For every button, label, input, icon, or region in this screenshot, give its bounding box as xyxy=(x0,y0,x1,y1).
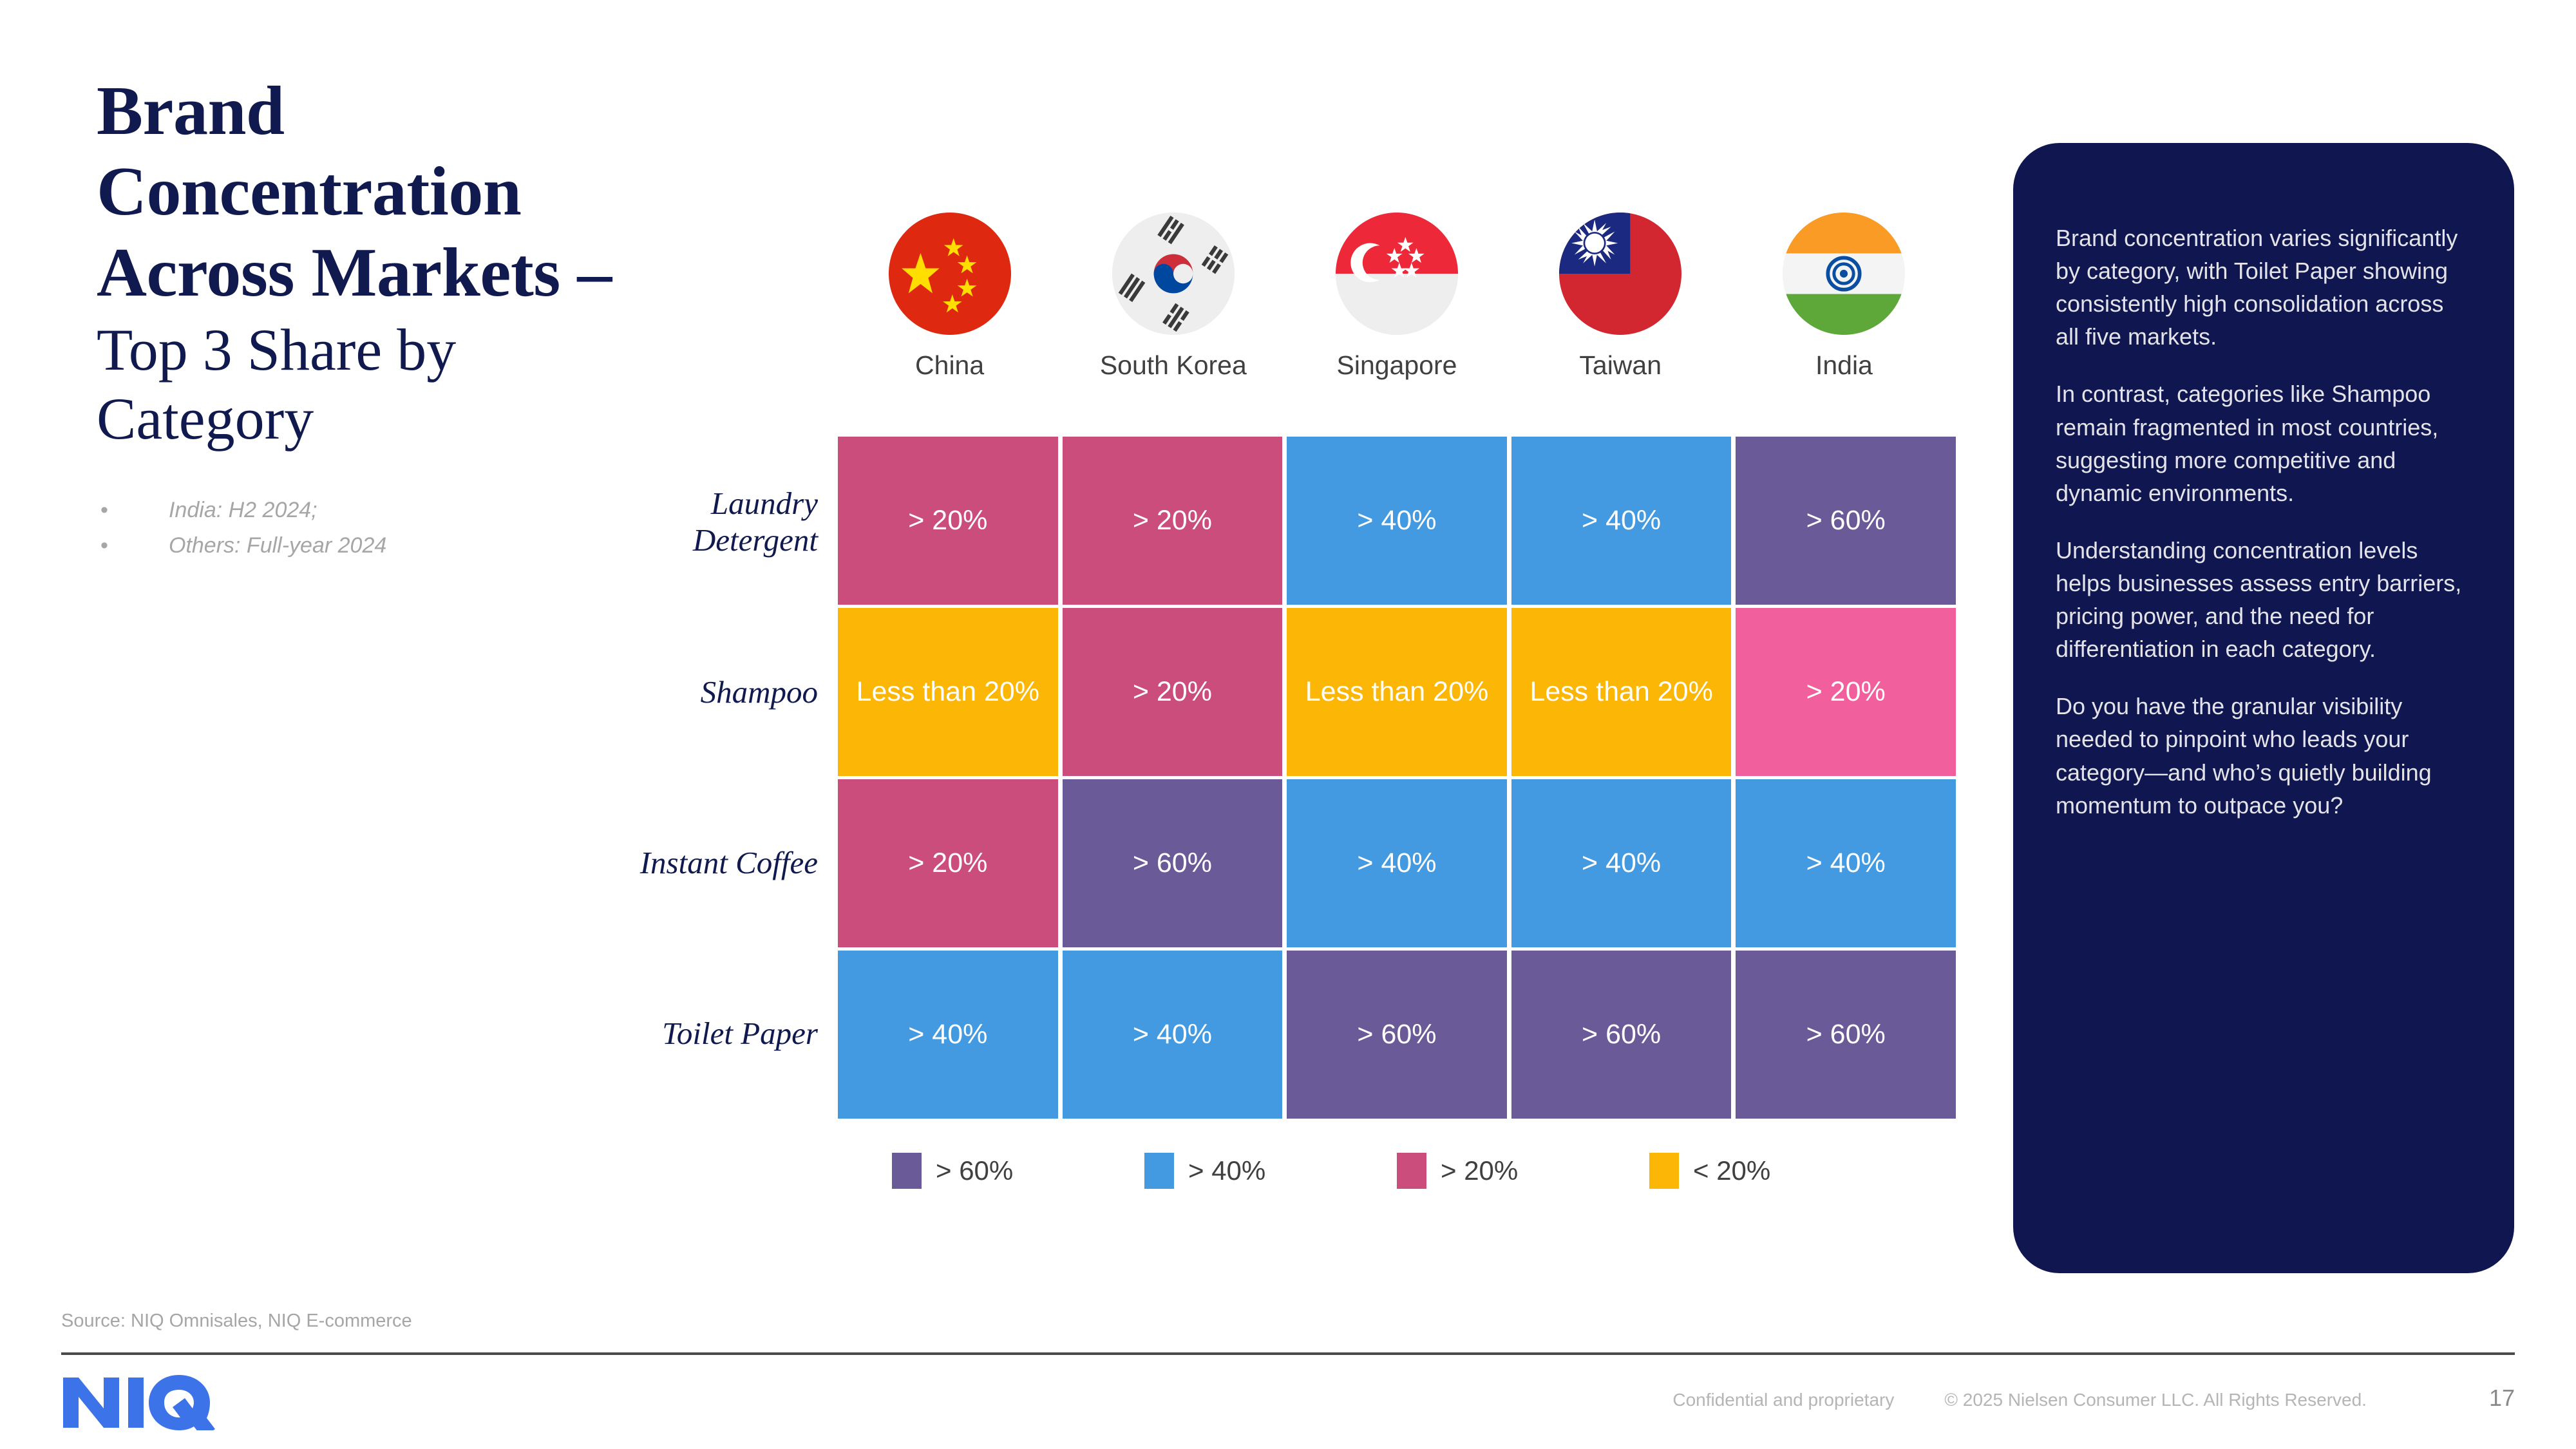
heatmap-cell[interactable]: > 60% xyxy=(1511,951,1732,1119)
page-number: 17 xyxy=(2489,1385,2515,1412)
legend-label: > 60% xyxy=(936,1155,1013,1186)
heatmap-cell[interactable]: > 20% xyxy=(1063,437,1283,605)
insight-panel: Brand concentration varies significantly… xyxy=(2013,143,2514,1273)
flag-taiwan-icon xyxy=(1559,213,1681,335)
insight-paragraph: In contrast, categories like Shampoo rem… xyxy=(2056,377,2472,509)
copyright-notice: © 2025 Nielsen Consumer LLC. All Rights … xyxy=(1944,1390,2367,1410)
legend-item-gt40[interactable]: > 40% xyxy=(1144,1153,1397,1189)
row-label-laundry-detergent: Laundry Detergent xyxy=(631,437,818,607)
heatmap-cell[interactable]: Less than 20% xyxy=(1287,608,1507,776)
column-header-label: Taiwan xyxy=(1579,350,1662,381)
heatmap-cell[interactable]: > 60% xyxy=(1287,951,1507,1119)
column-header-singapore: Singapore xyxy=(1285,213,1508,381)
heatmap-cell[interactable]: > 40% xyxy=(1736,779,1956,947)
insight-paragraph: Brand concentration varies significantly… xyxy=(2056,222,2472,353)
heatmap-row-labels: Laundry Detergent Shampoo Instant Coffee… xyxy=(631,437,818,1119)
chart-legend: > 60% > 40% > 20% < 20% xyxy=(838,1153,1956,1189)
heatmap-cell[interactable]: > 60% xyxy=(1736,951,1956,1119)
column-header-label: India xyxy=(1815,350,1873,381)
footer-meta-group: Confidential and proprietary © 2025 Niel… xyxy=(1672,1385,2515,1412)
column-header-india: India xyxy=(1732,213,1956,381)
legend-item-gt20[interactable]: > 20% xyxy=(1397,1153,1649,1189)
legend-swatch-icon xyxy=(1397,1153,1426,1189)
column-header-label: Singapore xyxy=(1337,350,1457,381)
row-label-toilet-paper: Toilet Paper xyxy=(631,948,818,1119)
legend-item-gt60[interactable]: > 60% xyxy=(892,1153,1144,1189)
source-note: Source: NIQ Omnisales, NIQ E-commerce xyxy=(61,1311,412,1332)
flag-singapore-icon xyxy=(1336,213,1458,335)
heatmap-cell[interactable]: > 40% xyxy=(1063,951,1283,1119)
insight-paragraph: Understanding concentration levels helps… xyxy=(2056,534,2472,665)
legend-swatch-icon xyxy=(892,1153,922,1189)
column-header-label: China xyxy=(915,350,984,381)
flag-south-korea-icon xyxy=(1112,213,1235,335)
column-header-taiwan: Taiwan xyxy=(1509,213,1732,381)
heatmap-cell[interactable]: > 20% xyxy=(838,779,1058,947)
heatmap-cell[interactable]: > 20% xyxy=(838,437,1058,605)
footer-divider xyxy=(61,1352,2515,1355)
heatmap-cell[interactable]: > 60% xyxy=(1736,437,1956,605)
column-header-china: China xyxy=(838,213,1061,381)
heatmap-cell[interactable]: > 40% xyxy=(1287,779,1507,947)
row-label-instant-coffee: Instant Coffee xyxy=(631,778,818,949)
page-subtitle: Top 3 Share by Category xyxy=(97,316,638,453)
heatmap-cell[interactable]: > 40% xyxy=(838,951,1058,1119)
legend-label: > 20% xyxy=(1441,1155,1518,1186)
legend-swatch-icon xyxy=(1649,1153,1679,1189)
heatmap-cell[interactable]: > 20% xyxy=(1063,608,1283,776)
niq-logo xyxy=(63,1375,250,1430)
heatmap-cell[interactable]: Less than 20% xyxy=(1511,608,1732,776)
heatmap-cell[interactable]: Less than 20% xyxy=(838,608,1058,776)
heatmap-cell[interactable]: > 60% xyxy=(1063,779,1283,947)
insight-paragraph: Do you have the granular visibility need… xyxy=(2056,690,2472,821)
country-header-row: China xyxy=(838,213,1956,381)
heatmap-grid: > 20% > 20% > 40% > 40% > 60% Less than … xyxy=(838,437,1956,1119)
column-header-label: South Korea xyxy=(1100,350,1247,381)
flag-india-icon xyxy=(1783,213,1905,335)
page-title: Brand Concentration Across Markets – xyxy=(97,71,638,313)
legend-swatch-icon xyxy=(1144,1153,1174,1189)
legend-label: < 20% xyxy=(1693,1155,1770,1186)
heatmap-cell[interactable]: > 40% xyxy=(1287,437,1507,605)
heatmap-cell[interactable]: > 20% xyxy=(1736,608,1956,776)
legend-label: > 40% xyxy=(1188,1155,1265,1186)
heatmap-cell[interactable]: > 40% xyxy=(1511,437,1732,605)
heatmap-cell[interactable]: > 40% xyxy=(1511,779,1732,947)
legend-item-lt20[interactable]: < 20% xyxy=(1649,1153,1902,1189)
flag-china-icon xyxy=(889,213,1011,335)
row-label-shampoo: Shampoo xyxy=(631,607,818,778)
confidential-notice: Confidential and proprietary xyxy=(1672,1390,1894,1410)
column-header-south-korea: South Korea xyxy=(1061,213,1285,381)
